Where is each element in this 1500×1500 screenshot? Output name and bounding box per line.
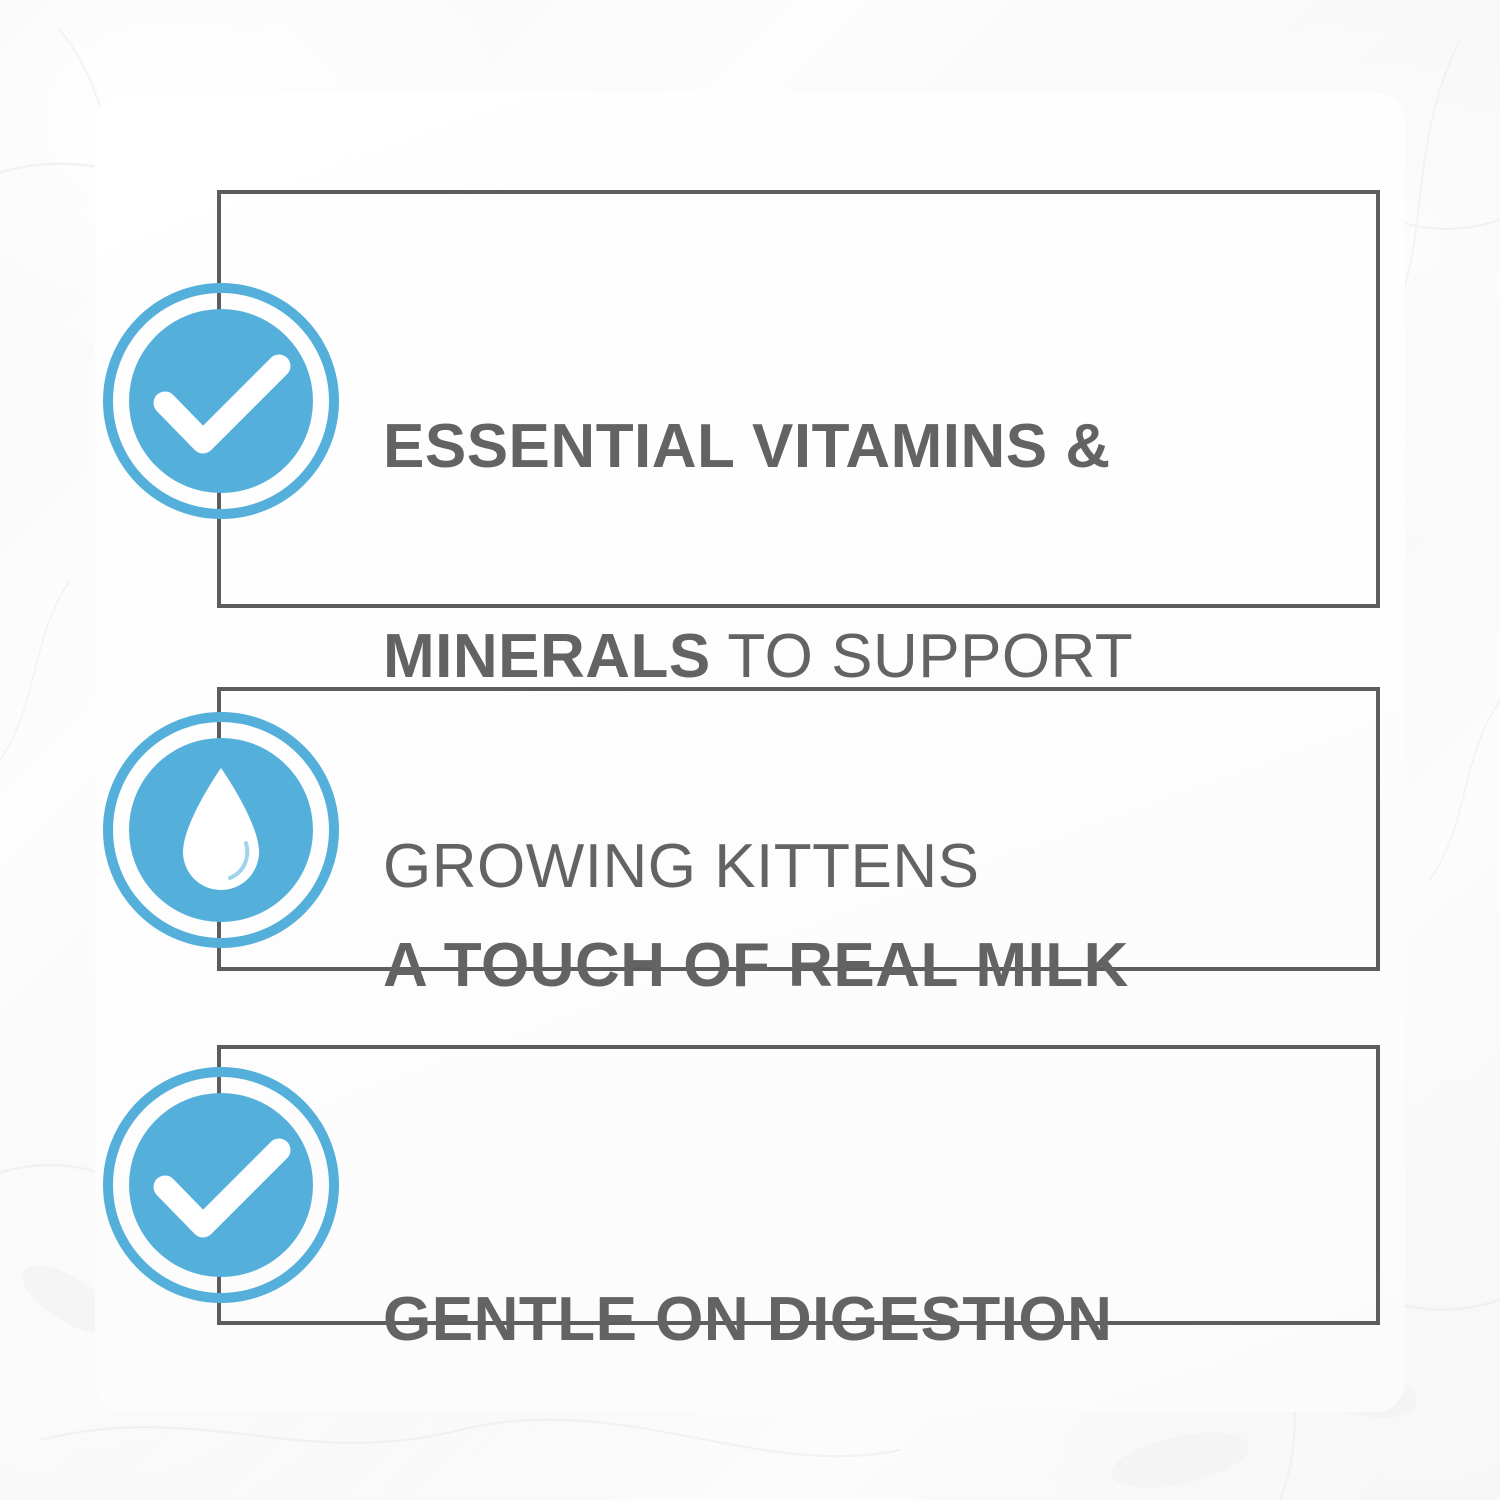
feature-label-emphasis: GENTLE ON DIGESTION [383,1285,1112,1354]
feature-label-emphasis: ESSENTIAL VITAMINS & [383,412,1111,481]
feature-label: A TOUCH OF REAL MILK [383,791,1323,1071]
infographic-canvas: ESSENTIAL VITAMINS & MINERALS TO SUPPORT… [0,0,1500,1500]
water-droplet-icon [103,712,339,948]
feature-label: GENTLE ON DIGESTION [383,1145,1323,1425]
feature-label-emphasis-2: MINERALS [383,622,711,691]
check-mark-icon [103,1067,339,1303]
feature-label-regular: TO SUPPORT [711,622,1133,691]
check-mark-icon [103,283,339,519]
feature-label-emphasis: A TOUCH OF REAL MILK [383,931,1129,1000]
